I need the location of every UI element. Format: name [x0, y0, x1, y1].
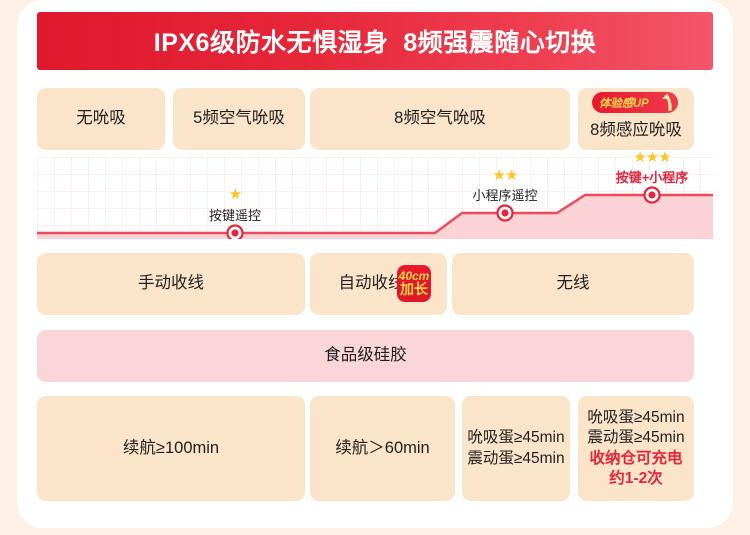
battery-card-2: 续航＞60min: [310, 396, 455, 501]
battery-card-4-highlight-2: 约1-2次: [587, 469, 684, 489]
cord-card-3: 无线: [452, 253, 694, 315]
chart-label-3: 按键+小程序: [616, 167, 689, 186]
experience-up-badge: 体验感UP: [592, 92, 678, 113]
cord-card-1: 手动收线: [37, 253, 305, 315]
length-tag: 40cm 加长: [397, 265, 431, 302]
header-banner: IPX6级防水无惧湿身 8频强震随心切换: [37, 12, 713, 70]
cord-card-1-label: 手动收线: [138, 273, 204, 295]
chart-marker-1: [228, 226, 243, 240]
chart-marker-2: [498, 206, 513, 221]
chart-label-1: 按键遥控: [209, 205, 261, 224]
material-card-label: 食品级硅胶: [324, 345, 407, 367]
material-card: 食品级硅胶: [37, 330, 694, 382]
suction-card-2-label: 5频空气吮吸: [193, 108, 285, 130]
cord-card-3-label: 无线: [557, 273, 590, 295]
banner-title: IPX6级防水无惧湿身 8频强震随心切换: [154, 23, 597, 59]
chart-stars-3: ★★★: [633, 148, 670, 166]
chart-marker-3: [645, 188, 660, 203]
control-level-chart: ★ 按键遥控 ★★ 小程序遥控 ★★★ 按键+小程序: [37, 157, 713, 239]
experience-up-badge-label: 体验感UP: [599, 95, 648, 111]
battery-card-4: 吮吸蛋≥45min 震动蛋≥45min 收纳仓可充电 约1-2次: [578, 396, 694, 501]
battery-card-3-line-1: 吮吸蛋≥45min: [467, 428, 564, 448]
suction-card-2: 5频空气吮吸: [173, 88, 305, 150]
chart-stars-2: ★★: [493, 166, 518, 184]
battery-card-4-line-1: 吮吸蛋≥45min: [587, 408, 684, 428]
length-tag-label: 加长: [400, 282, 428, 296]
chart-stars-1: ★: [229, 185, 241, 203]
cord-card-2-label: 自动收线: [339, 273, 405, 295]
up-arrow-icon: [660, 93, 674, 112]
battery-card-3: 吮吸蛋≥45min 震动蛋≥45min: [462, 396, 570, 501]
suction-card-3-label: 8频空气吮吸: [394, 108, 486, 130]
suction-card-1-label: 无吮吸: [76, 108, 126, 130]
suction-card-1: 无吮吸: [37, 88, 165, 150]
chart-svg: [37, 157, 713, 239]
battery-card-2-line-1: 续航＞60min: [335, 438, 429, 460]
battery-card-1: 续航≥100min: [37, 396, 305, 501]
infographic-page: IPX6级防水无惧湿身 8频强震随心切换 无吮吸 5频空气吮吸 8频空气吮吸 体…: [0, 0, 750, 535]
suction-card-3: 8频空气吮吸: [310, 88, 570, 150]
suction-card-4-label: 8频感应吮吸: [578, 116, 694, 140]
battery-card-3-line-2: 震动蛋≥45min: [467, 449, 564, 469]
chart-label-2: 小程序遥控: [472, 185, 537, 204]
battery-card-1-line-1: 续航≥100min: [123, 438, 219, 460]
battery-card-4-line-2: 震动蛋≥45min: [587, 428, 684, 448]
battery-card-4-highlight-1: 收纳仓可充电: [587, 449, 684, 469]
